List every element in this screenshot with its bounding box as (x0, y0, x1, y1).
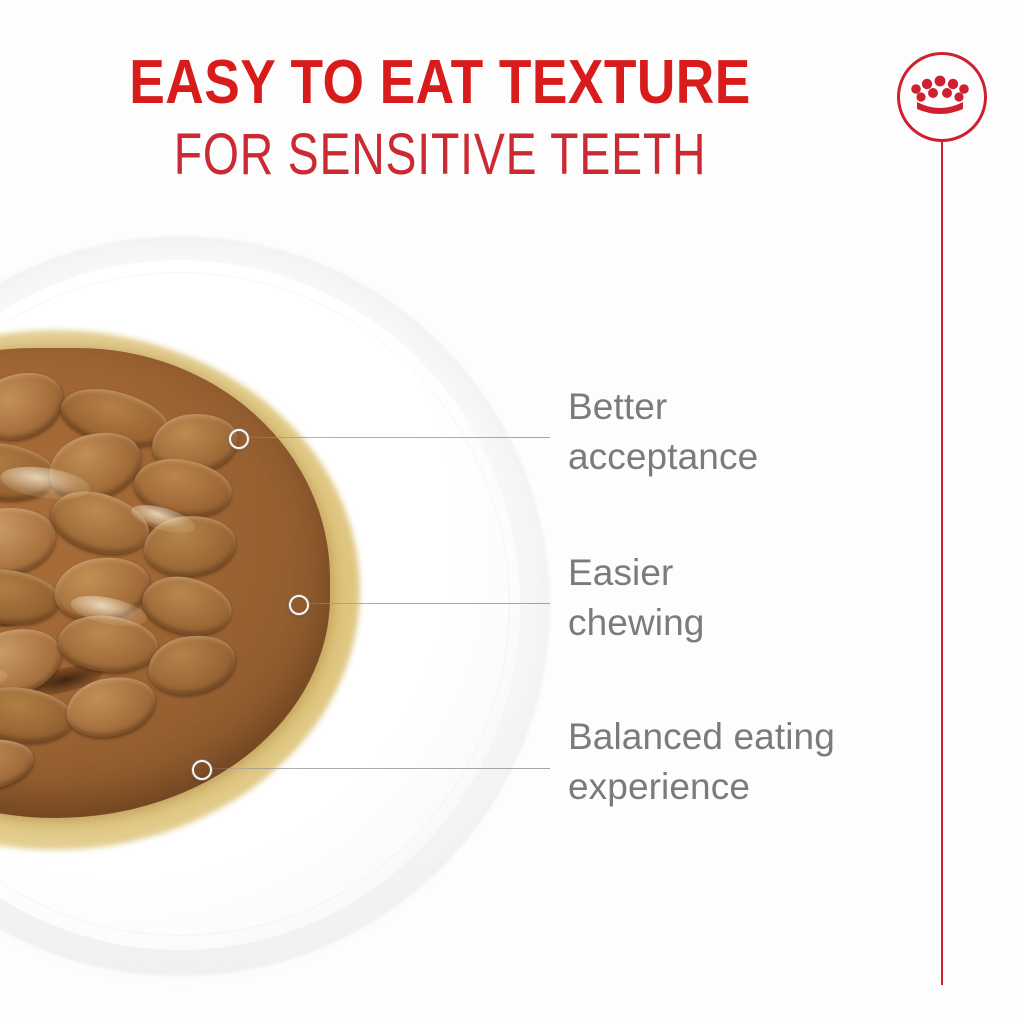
royal-canin-logo (897, 52, 987, 142)
benefit-label-2: Easier chewing (568, 548, 704, 648)
callout-line-2 (305, 603, 550, 604)
callout-dot-1 (229, 429, 249, 449)
benefit-label-3: Balanced eating experience (568, 712, 835, 812)
callout-line-3 (208, 768, 550, 769)
callout-dot-3 (192, 760, 212, 780)
logo-stem-line (941, 142, 943, 985)
page-subtitle: FOR SENSITIVE TEETH (88, 126, 792, 184)
callout-dot-2 (289, 595, 309, 615)
callout-line-1 (245, 437, 550, 438)
page-title: EASY TO EAT TEXTURE (62, 52, 819, 114)
benefit-label-1: Better acceptance (568, 382, 758, 482)
crown-icon (911, 74, 969, 116)
product-feature-panel: EASY TO EAT TEXTURE FOR SENSITIVE TEETH (0, 0, 1024, 1024)
headline-block: EASY TO EAT TEXTURE FOR SENSITIVE TEETH (0, 52, 880, 184)
